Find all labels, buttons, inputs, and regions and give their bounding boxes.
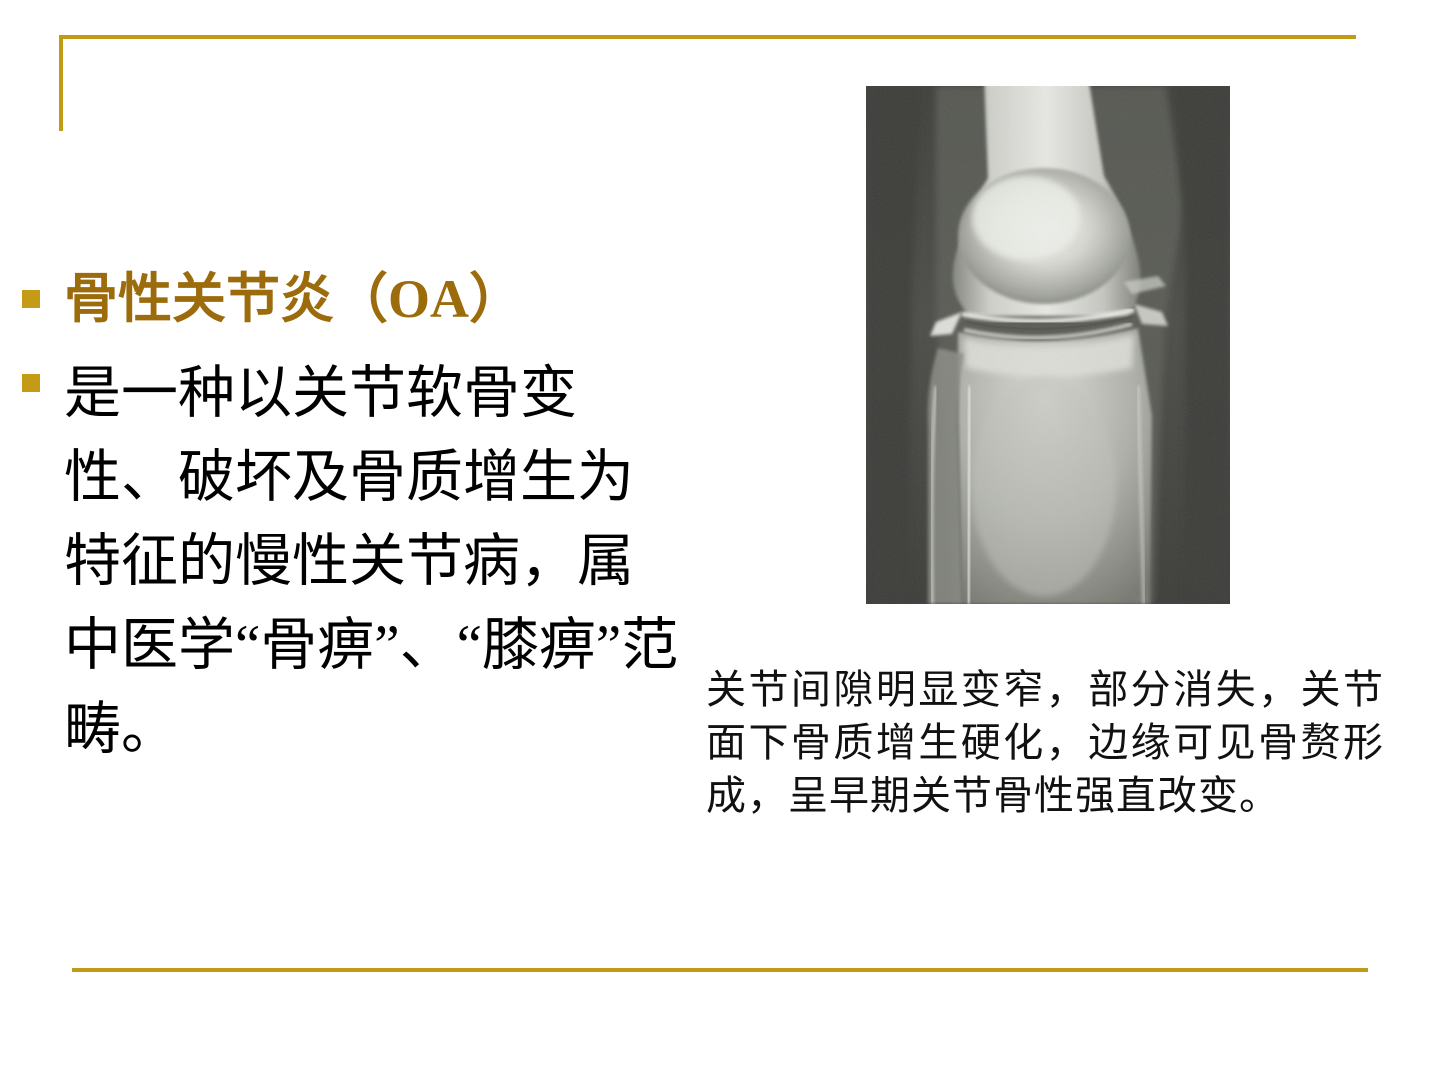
- left-border-rule: [59, 35, 63, 131]
- list-item: 是一种以关节软骨变性、破坏及骨质增生为特征的慢性关节病，属中医学“骨痹”、“膝痹…: [0, 352, 680, 772]
- top-border-rule: [59, 35, 1356, 39]
- square-bullet-icon: [22, 374, 40, 392]
- slide-canvas: 骨性关节炎（OA） 是一种以关节软骨变性、破坏及骨质增生为特征的慢性关节病，属中…: [0, 0, 1440, 1080]
- definition-paragraph: 是一种以关节软骨变性、破坏及骨质增生为特征的慢性关节病，属中医学“骨痹”、“膝痹…: [64, 352, 680, 772]
- slide-title: 骨性关节炎（OA）: [64, 268, 680, 330]
- list-item: 骨性关节炎（OA）: [0, 268, 680, 330]
- figure-caption: 关节间隙明显变窄，部分消失，关节面下骨质增生硬化，边缘可见骨赘形成，呈早期关节骨…: [706, 663, 1384, 822]
- square-bullet-icon: [22, 290, 40, 308]
- knee-joint-xray-image: [866, 86, 1230, 604]
- bullet-list: 骨性关节炎（OA） 是一种以关节软骨变性、破坏及骨质增生为特征的慢性关节病，属中…: [0, 268, 680, 772]
- bottom-border-rule: [72, 968, 1368, 972]
- xray-illustration: [866, 86, 1230, 604]
